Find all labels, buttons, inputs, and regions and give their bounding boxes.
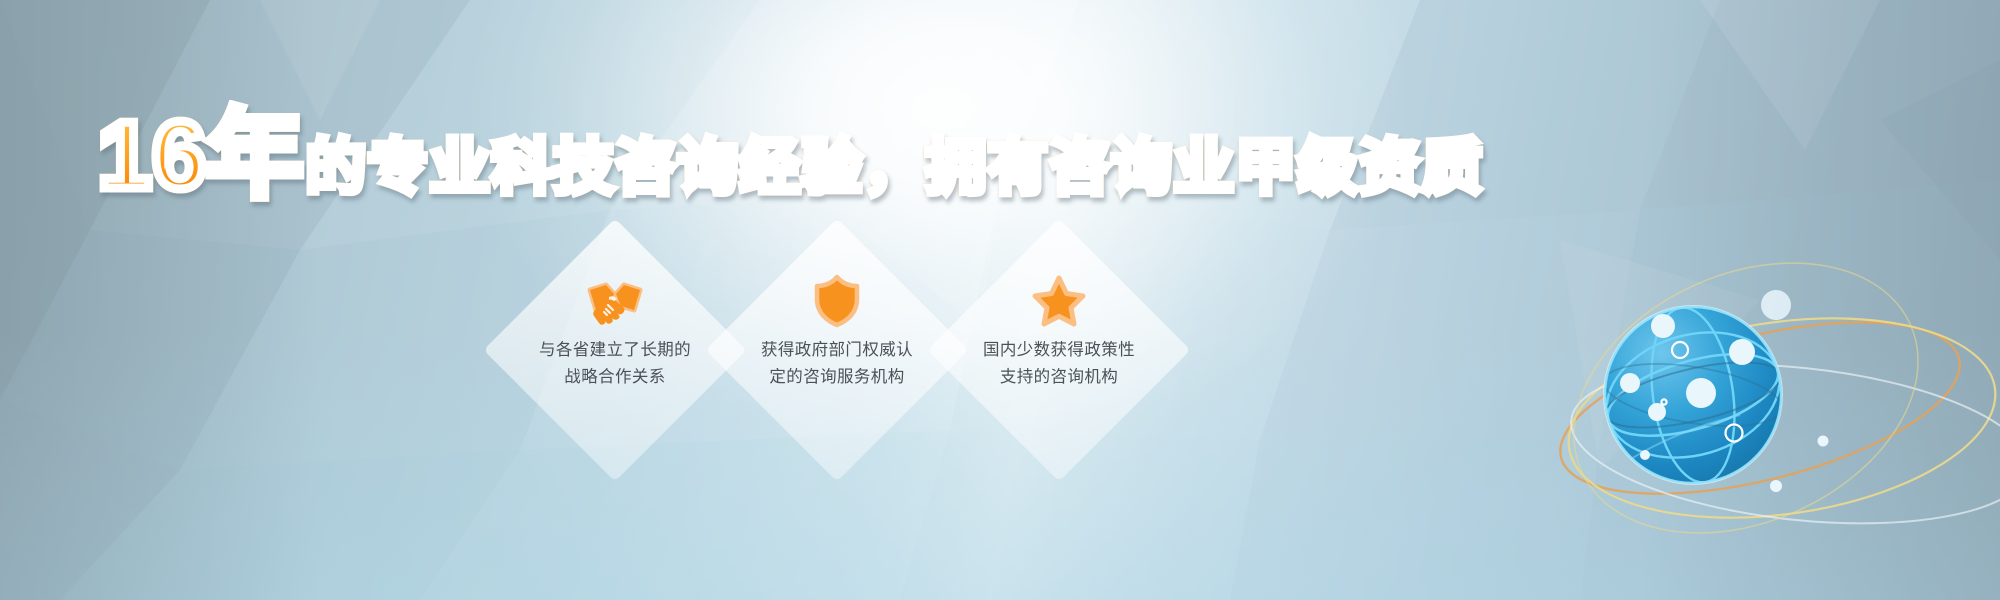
headline-text: 的专业科技咨询经验，拥有咨询业甲级资质 — [306, 138, 1484, 198]
feature-line-1: 与各省建立了长期的 — [539, 337, 691, 364]
headline-years: 16年 — [98, 108, 304, 204]
feature-line-2: 战略合作关系 — [564, 364, 665, 391]
feature-line-2: 定的咨询服务机构 — [769, 364, 904, 391]
feature-card[interactable]: 获得政府部门权威认 定的咨询服务机构 — [722, 235, 952, 465]
feature-card[interactable]: 国内少数获得政策性 支持的咨询机构 — [944, 235, 1174, 465]
promo-banner: 16年 的专业科技咨询经验，拥有咨询业甲级资质 — [0, 0, 2000, 600]
star-icon — [1031, 275, 1087, 327]
feature-card[interactable]: 与各省建立了长期的 战略合作关系 — [500, 235, 730, 465]
feature-list: 与各省建立了长期的 战略合作关系 获得政府部门权威认 定的咨询服务机构 — [500, 225, 1200, 495]
shield-icon — [809, 275, 865, 327]
handshake-icon — [587, 275, 643, 327]
feature-line-1: 国内少数获得政策性 — [983, 337, 1135, 364]
feature-line-1: 获得政府部门权威认 — [761, 337, 913, 364]
feature-line-2: 支持的咨询机构 — [1000, 364, 1118, 391]
globe-network-icon — [1550, 248, 2000, 578]
headline: 16年 的专业科技咨询经验，拥有咨询业甲级资质 — [98, 108, 1484, 204]
